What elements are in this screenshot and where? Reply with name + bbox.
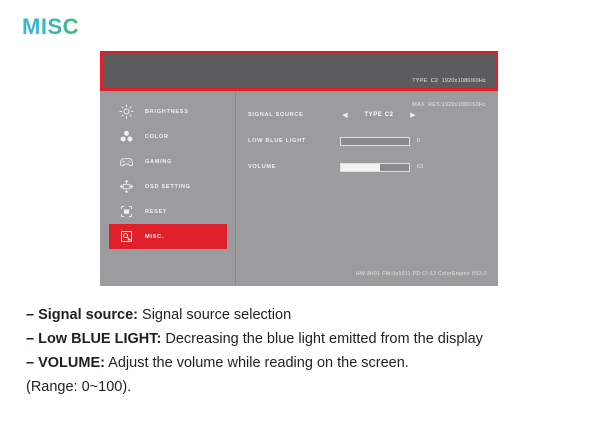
setting-row-volume: VOLUME 63 [236,154,498,180]
low-blue-light-value: 0 [417,138,420,144]
volume-label: VOLUME [248,164,340,170]
sidebar-item-reset[interactable]: RESET [109,199,227,224]
chevron-right-icon[interactable]: ▶ [408,112,418,119]
low-blue-light-control: 0 [340,137,498,146]
caption-term: Signal source: [38,307,138,323]
caption-block: – Signal source: Signal source selection… [26,303,602,399]
caption-dash: – [26,307,38,323]
caption-desc: Adjust the volume while reading on the s… [105,355,409,371]
sidebar-item-osd-setting[interactable]: OSD SETTING [109,174,227,199]
osd-sidebar-menu: BRIGHTNESS COLOR [100,91,236,286]
gaming-icon [119,154,134,169]
osd-header: TYPE C2 1920x1080/60Hz MAX RES:1920x1080… [100,51,498,91]
sidebar-item-label: MISC. [145,234,164,240]
caption-line-low-blue-light: – Low BLUE LIGHT: Decreasing the blue li… [26,327,602,351]
setting-row-low-blue-light: LOW BLUE LIGHT 0 [236,128,498,154]
osd-body: BRIGHTNESS COLOR [100,91,498,286]
caption-line-volume-range: (Range: 0~100). [26,375,602,399]
sidebar-item-label: RESET [145,209,167,215]
sidebar-item-color[interactable]: COLOR [109,124,227,149]
caption-line-signal-source: – Signal source: Signal source selection [26,303,602,327]
osd-header-type-line: TYPE C2 1920x1080/60Hz [412,77,486,85]
osd-settings-pane: SIGNAL SOURCE ◀ TYPE C2 ▶ LOW BLUE LIGHT… [236,91,498,286]
osd-menu-window: TYPE C2 1920x1080/60Hz MAX RES:1920x1080… [100,51,498,286]
caption-desc: Signal source selection [138,307,291,323]
signal-source-label: SIGNAL SOURCE [248,112,340,118]
misc-icon [119,229,134,244]
sidebar-item-misc[interactable]: MISC. [109,224,227,249]
sidebar-item-label: OSD SETTING [145,184,191,190]
caption-term: Low BLUE LIGHT: [38,331,161,347]
volume-value: 63 [417,164,424,170]
caption-term: VOLUME: [38,355,105,371]
reset-icon [119,204,134,219]
volume-control: 63 [340,163,498,172]
caption-desc: (Range: 0~100). [26,379,131,395]
caption-dash: – [26,331,38,347]
caption-line-volume: – VOLUME: Adjust the volume while readin… [26,351,602,375]
signal-source-control: ◀ TYPE C2 ▶ [340,112,498,119]
volume-slider[interactable] [340,163,410,172]
page-title: MISC [22,14,79,40]
sidebar-item-label: BRIGHTNESS [145,109,189,115]
chevron-left-icon[interactable]: ◀ [340,112,350,119]
sidebar-item-label: COLOR [145,134,169,140]
sidebar-item-brightness[interactable]: BRIGHTNESS [109,99,227,124]
osd-firmware-info: HW:3H01 FW:0v1011 PD:CI-13 ColorEngine I… [356,271,487,277]
sidebar-item-label: GAMING [145,159,172,165]
osd-setting-icon [119,179,134,194]
color-icon [119,129,134,144]
caption-dash: – [26,355,38,371]
signal-source-value[interactable]: TYPE C2 [350,112,408,118]
low-blue-light-label: LOW BLUE LIGHT [248,138,340,144]
brightness-icon [119,104,134,119]
setting-row-signal-source: SIGNAL SOURCE ◀ TYPE C2 ▶ [236,102,498,128]
sidebar-item-gaming[interactable]: GAMING [109,149,227,174]
volume-slider-fill [341,164,380,171]
caption-desc: Decreasing the blue light emitted from t… [161,331,483,347]
low-blue-light-slider[interactable] [340,137,410,146]
